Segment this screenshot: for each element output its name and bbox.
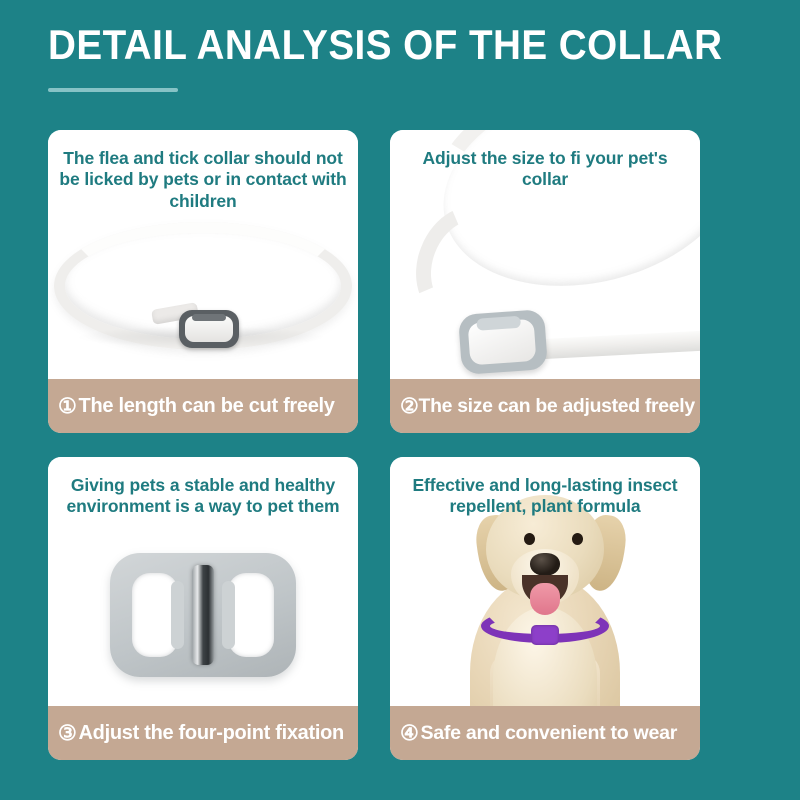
dog-nose: [530, 553, 560, 576]
card-4-number-badge: ④: [400, 723, 419, 744]
four-point-buckle-graphic: [110, 553, 296, 677]
card-3-body: Giving pets a stable and healthy environ…: [48, 457, 358, 706]
card-4-footer-label: Safe and convenient to wear: [421, 722, 677, 745]
collar-buckle-icon: [179, 310, 239, 348]
buckle-slot-right: [228, 573, 274, 657]
card-2-footer: ② The size can be adjusted freely: [390, 379, 700, 433]
card-1-caption: The flea and tick collar should not be l…: [58, 148, 348, 212]
card-2-body: Adjust the size to fi your pet's collar: [390, 130, 700, 379]
card-1-footer-label: The length can be cut freely: [79, 395, 335, 418]
dog-eye-right: [572, 533, 583, 545]
card-1-body: The flea and tick collar should not be l…: [48, 130, 358, 379]
card-3-footer: ③ Adjust the four-point fixation: [48, 706, 358, 760]
card-2-caption: Adjust the size to fi your pet's collar: [400, 148, 690, 191]
card-3-footer-label: Adjust the four-point fixation: [79, 722, 344, 745]
purple-collar-buckle: [531, 625, 559, 645]
dog-eye-left: [524, 533, 535, 545]
feature-card-2: Adjust the size to fi your pet's collar …: [390, 130, 700, 433]
infographic-page: DETAIL ANALYSIS OF THE COLLAR The flea a…: [0, 0, 800, 800]
collar-strap-straight: [528, 330, 700, 360]
feature-card-4: Effective and long-lasting insect repell…: [390, 457, 700, 760]
card-4-caption: Effective and long-lasting insect repell…: [400, 475, 690, 518]
card-3-number-badge: ③: [58, 723, 77, 744]
title-underline-rule: [48, 88, 178, 92]
buckle-center-bar: [192, 565, 214, 665]
card-3-caption: Giving pets a stable and healthy environ…: [58, 475, 348, 518]
card-2-number-badge: ②: [400, 396, 419, 417]
buckle-slot-left: [132, 573, 178, 657]
card-4-body: Effective and long-lasting insect repell…: [390, 457, 700, 706]
card-4-footer: ④ Safe and convenient to wear: [390, 706, 700, 760]
card-2-footer-label: The size can be adjusted freely: [419, 395, 695, 418]
collar-loop-graphic: [48, 222, 358, 372]
feature-card-1: The flea and tick collar should not be l…: [48, 130, 358, 433]
card-1-number-badge: ①: [58, 396, 77, 417]
feature-card-3: Giving pets a stable and healthy environ…: [48, 457, 358, 760]
page-title: DETAIL ANALYSIS OF THE COLLAR: [48, 22, 701, 68]
page-header: DETAIL ANALYSIS OF THE COLLAR: [48, 22, 758, 92]
card-1-footer: ① The length can be cut freely: [48, 379, 358, 433]
feature-card-grid: The flea and tick collar should not be l…: [48, 130, 754, 760]
adjustable-buckle-icon: [458, 309, 548, 375]
